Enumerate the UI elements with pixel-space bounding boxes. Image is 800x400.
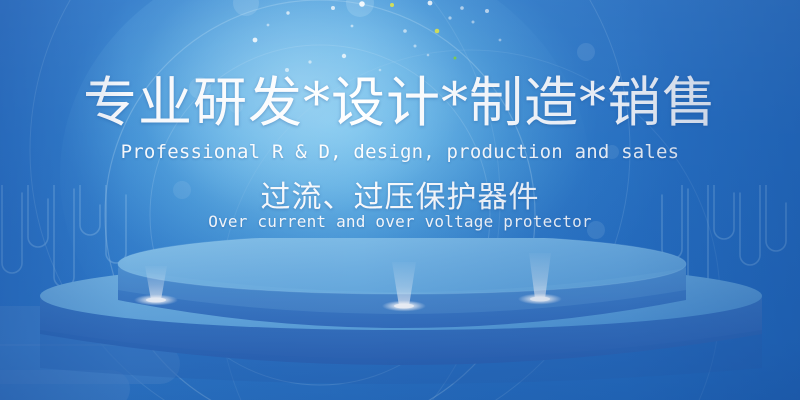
promotional-banner: 专业研发*设计*制造*销售 Professional R & D, design… [0, 0, 800, 400]
banner-text-block: 专业研发*设计*制造*销售 Professional R & D, design… [0, 0, 800, 400]
subtitle-chinese: 过流、过压保护器件 [0, 180, 800, 216]
headline-chinese: 专业研发*设计*制造*销售 [0, 74, 800, 132]
headline-english: Professional R & D, design, production a… [0, 140, 800, 164]
subtitle-english: Over current and over voltage protector [0, 212, 800, 232]
